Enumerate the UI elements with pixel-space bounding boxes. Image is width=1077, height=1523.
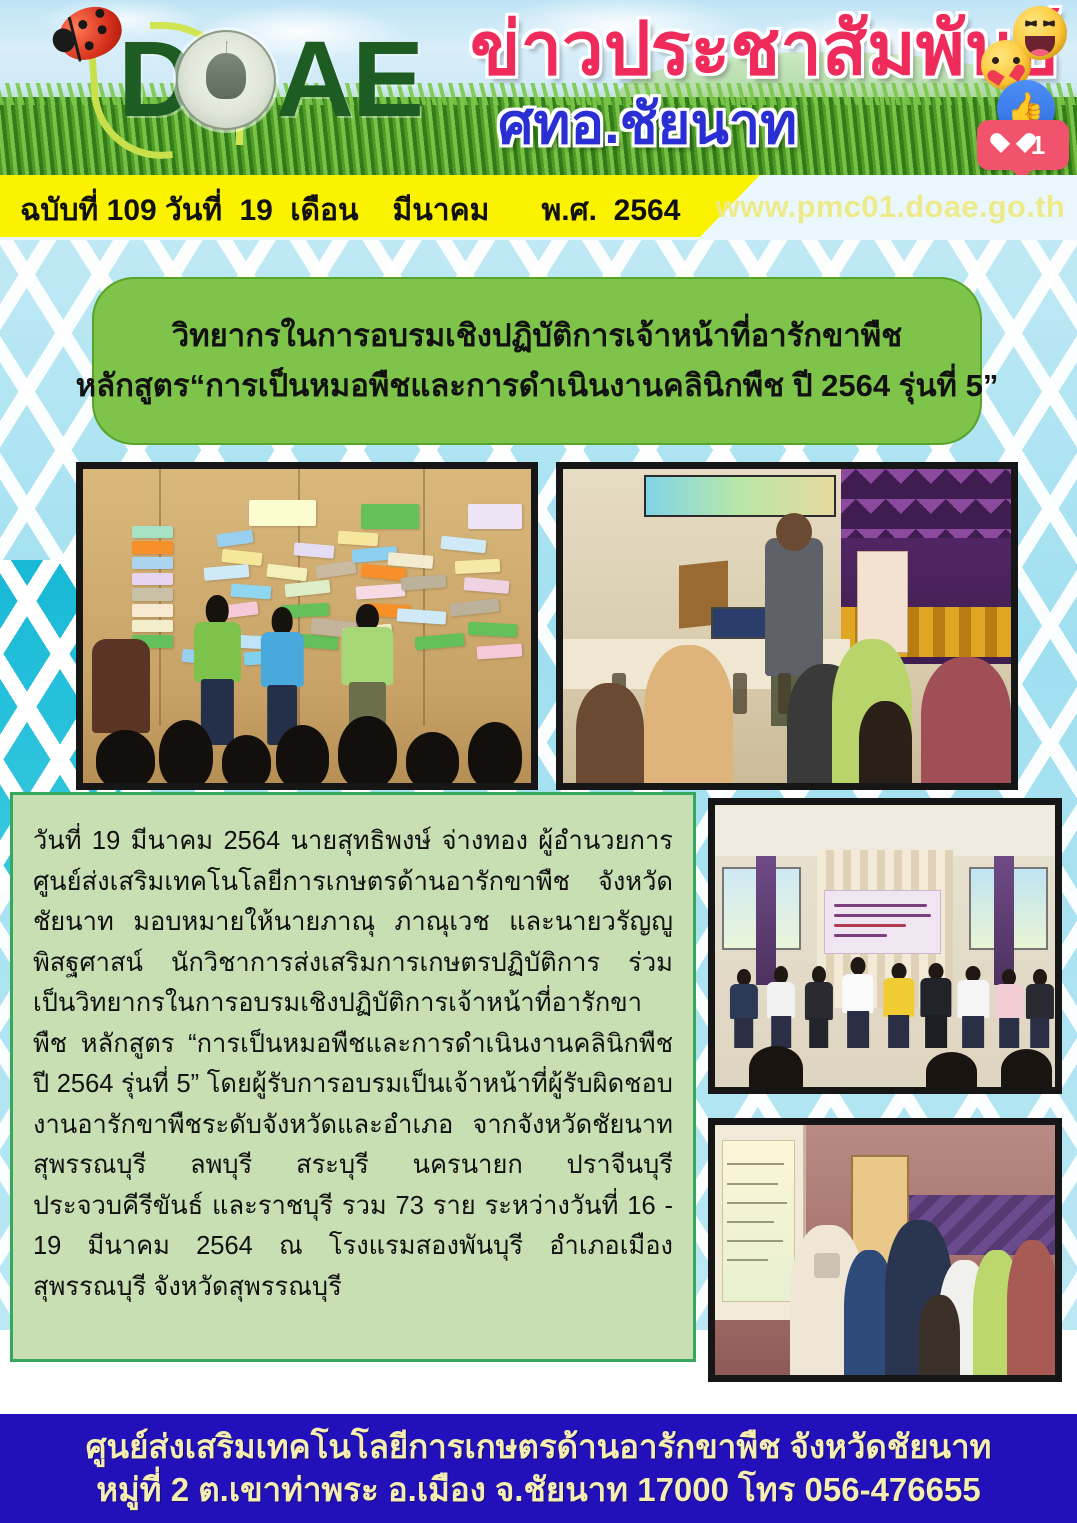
issue-date-line: ฉบับที่ 109 วันที่ 19 เดือนมีนาคมพ.ศ. 25… bbox=[20, 187, 680, 234]
heart-icon bbox=[1001, 134, 1025, 156]
title-card: วิทยากรในการอบรมเชิงปฏิบัติการเจ้าหน้าที… bbox=[92, 277, 982, 445]
social-reactions-cluster: 👍 1 bbox=[975, 2, 1071, 174]
article-body-card: วันที่ 19 มีนาคม 2564 นายสุทธิพงษ์ จ่างท… bbox=[10, 792, 696, 1362]
issue-day-highlight: 19 bbox=[231, 194, 282, 228]
issue-month: มีนาคม bbox=[392, 194, 489, 227]
month-label: เดือน bbox=[290, 194, 358, 227]
photo-speaker-presentation bbox=[556, 462, 1018, 790]
garuda-seal-icon bbox=[176, 30, 276, 130]
article-body-text: วันที่ 19 มีนาคม 2564 นายสุทธิพงษ์ จ่างท… bbox=[33, 821, 673, 1307]
headline-main: ข่าวประชาสัมพันธ์ bbox=[470, 12, 1060, 86]
year-label: พ.ศ. bbox=[541, 194, 597, 227]
headline-subtitle: ศทอ.ชัยนาท bbox=[498, 96, 797, 152]
title-line-1: วิทยากรในการอบรมเชิงปฏิบัติการเจ้าหน้าที… bbox=[172, 319, 902, 353]
header-banner: DOAE ข่าวประชาสัมพันธ์ ศทอ.ชัยนาท 👍 1 bbox=[0, 0, 1077, 175]
footer-address-phone: หมู่ที่ 2 ต.เขาท่าพระ อ.เมือง จ.ชัยนาท 1… bbox=[96, 1473, 980, 1508]
issue-info-bar: ฉบับที่ 109 วันที่ 19 เดือนมีนาคมพ.ศ. 25… bbox=[0, 175, 1077, 237]
photo-stage-group bbox=[708, 798, 1062, 1094]
issue-label: ฉบับที่ 109 วันที่ bbox=[20, 194, 222, 227]
footer-contact-bar: ศูนย์ส่งเสริมเทคโนโลยีการเกษตรด้านอารักข… bbox=[0, 1414, 1077, 1523]
title-line-2: หลักสูตร“การเป็นหมอพืชและการดำเนินงานคลิ… bbox=[76, 369, 999, 403]
heart-reaction-badge[interactable]: 1 bbox=[977, 120, 1069, 170]
issue-year: 2564 bbox=[614, 194, 681, 227]
photo-workshop-sticky-notes bbox=[76, 462, 538, 790]
website-url[interactable]: www.pmc01.doae.go.th bbox=[716, 189, 1065, 225]
photo-poster-session bbox=[708, 1118, 1062, 1382]
footer-organization-name: ศูนย์ส่งเสริมเทคโนโลยีการเกษตรด้านอารักข… bbox=[86, 1430, 992, 1465]
